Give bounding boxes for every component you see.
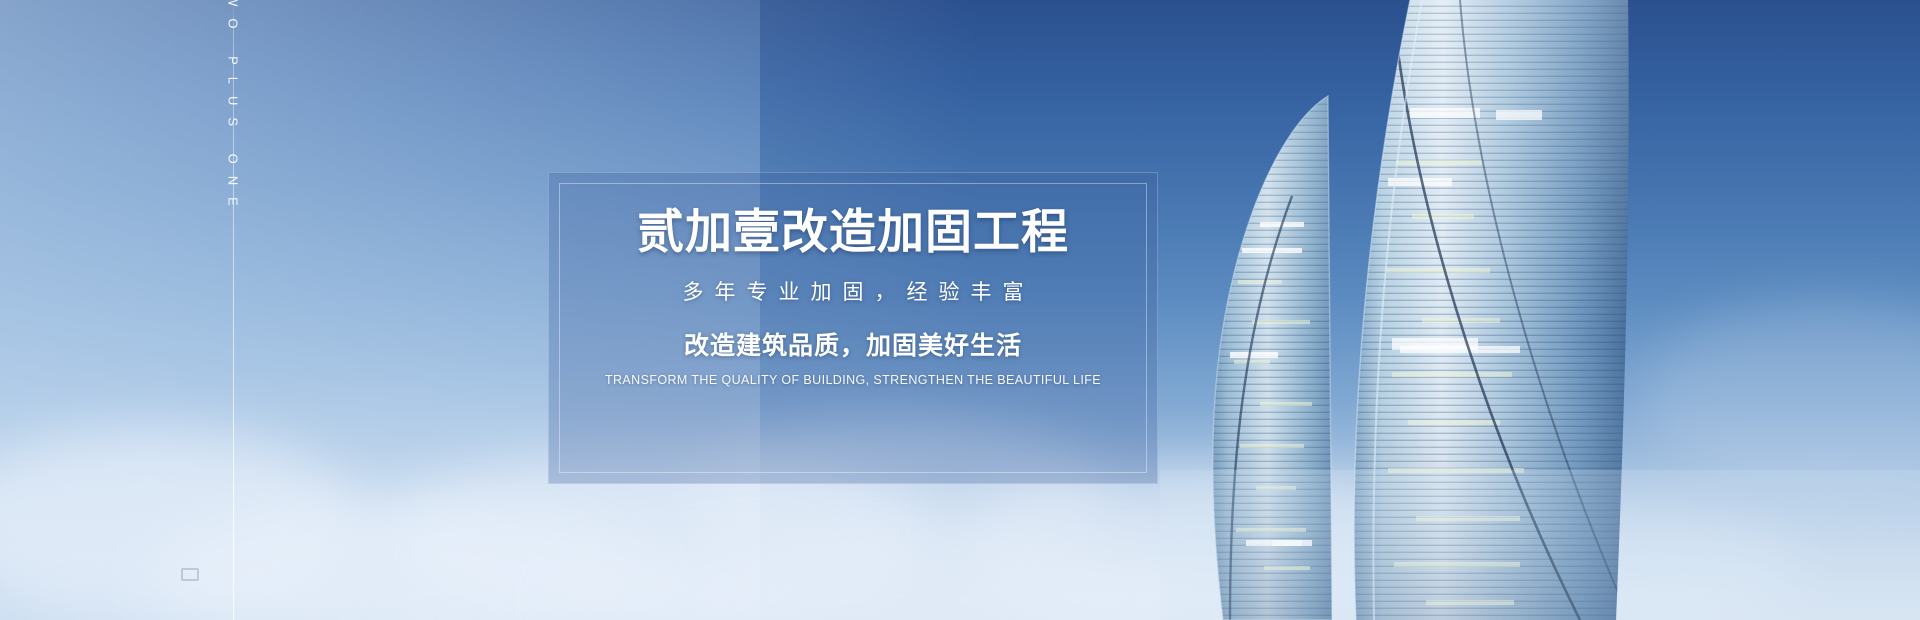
- hero-title: 贰加壹改造加固工程: [549, 207, 1157, 258]
- twin-towers-illustration: [1160, 0, 1920, 620]
- cloud-shape: [560, 545, 1260, 620]
- hero-english-tagline: TRANSFORM THE QUALITY OF BUILDING, STREN…: [549, 373, 1157, 387]
- cloud-shape: [0, 430, 360, 620]
- hero-subtitle: 多年专业加固，经验丰富: [549, 280, 1157, 305]
- corner-mark-icon: [181, 568, 199, 581]
- hero-slogan: 改造建筑品质，加固美好生活: [549, 331, 1157, 361]
- hero-banner: TWO PLUS ONE 贰加壹改造加固工程 多年专业加固，经验丰富 改造建筑品…: [0, 0, 1920, 620]
- panel-content: 贰加壹改造加固工程 多年专业加固，经验丰富 改造建筑品质，加固美好生活 TRAN…: [549, 207, 1157, 387]
- cloud-shape: [150, 500, 650, 620]
- vertical-brand-label: TWO PLUS ONE: [227, 0, 240, 218]
- vertical-brand-text: TWO PLUS ONE: [220, 0, 233, 218]
- hero-text-panel: 贰加壹改造加固工程 多年专业加固，经验丰富 改造建筑品质，加固美好生活 TRAN…: [548, 172, 1158, 484]
